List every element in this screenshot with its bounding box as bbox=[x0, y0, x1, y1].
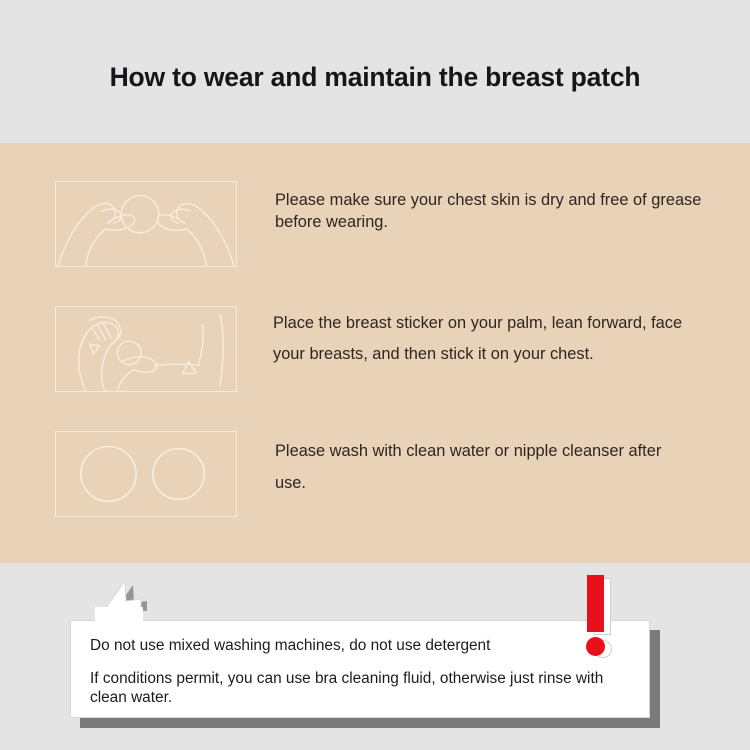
warning-text-group: Do not use mixed washing machines, do no… bbox=[90, 636, 630, 708]
infographic-page: How to wear and maintain the breast patc… bbox=[0, 0, 750, 750]
header-band: How to wear and maintain the breast patc… bbox=[0, 0, 750, 143]
person-leaning-forward-applying-patch-illustration bbox=[55, 306, 237, 392]
warning-line-2: If conditions permit, you can use bra cl… bbox=[90, 669, 630, 708]
two-hands-holding-patch-illustration bbox=[55, 181, 237, 267]
exclamation-bar bbox=[587, 575, 604, 632]
warning-area: Do not use mixed washing machines, do no… bbox=[0, 563, 750, 750]
callout-pointer-tail bbox=[95, 563, 165, 625]
step-text: Please wash with clean water or nipple c… bbox=[275, 436, 695, 500]
header-watermark bbox=[175, 22, 595, 62]
step-text: Place the breast sticker on your palm, l… bbox=[273, 308, 718, 370]
instructions-panel: Please make sure your chest skin is dry … bbox=[0, 143, 750, 563]
page-title: How to wear and maintain the breast patc… bbox=[0, 62, 750, 93]
step-row: Please make sure your chest skin is dry … bbox=[0, 181, 750, 267]
step-row: Please wash with clean water or nipple c… bbox=[0, 431, 750, 517]
step-row: Place the breast sticker on your palm, l… bbox=[0, 306, 750, 392]
two-round-patches-illustration bbox=[55, 431, 237, 517]
warning-line-1: Do not use mixed washing machines, do no… bbox=[90, 636, 630, 656]
step-text: Please make sure your chest skin is dry … bbox=[275, 190, 707, 233]
